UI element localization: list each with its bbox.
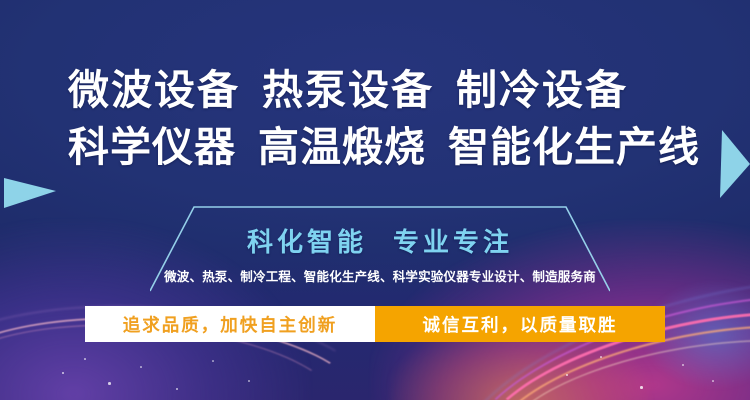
slogan-quality-button[interactable]: 追求品质，加快自主创新	[85, 306, 375, 342]
promo-banner: 微波设备热泵设备制冷设备 科学仪器高温煅烧智能化生产线 科化智能专业专注 微波、…	[0, 0, 750, 400]
slogan-integrity-label: 诚信互利，以质量取胜	[423, 312, 618, 337]
headline-item: 制冷设备	[456, 62, 628, 119]
slogan-bar: 追求品质，加快自主创新 诚信互利，以质量取胜	[85, 306, 665, 342]
triangle-right-icon-left	[4, 178, 56, 208]
headline-item: 热泵设备	[262, 62, 434, 119]
headline-item: 高温煅烧	[258, 119, 426, 176]
subtitle: 科化智能专业专注	[150, 222, 610, 259]
subtitle-right: 专业专注	[393, 228, 513, 258]
subtitle-left: 科化智能	[247, 228, 367, 258]
description-text: 微波、热泵、制冷工程、智能化生产线、科学实验仪器专业设计、制造服务商	[120, 266, 640, 285]
slogan-quality-label: 追求品质，加快自主创新	[123, 312, 338, 337]
headline-item: 微波设备	[68, 62, 240, 119]
headline-item: 智能化生产线	[448, 119, 700, 176]
headline-item: 科学仪器	[68, 119, 236, 176]
page-title: 微波设备热泵设备制冷设备 科学仪器高温煅烧智能化生产线	[68, 62, 698, 176]
slogan-integrity-button[interactable]: 诚信互利，以质量取胜	[375, 306, 665, 342]
